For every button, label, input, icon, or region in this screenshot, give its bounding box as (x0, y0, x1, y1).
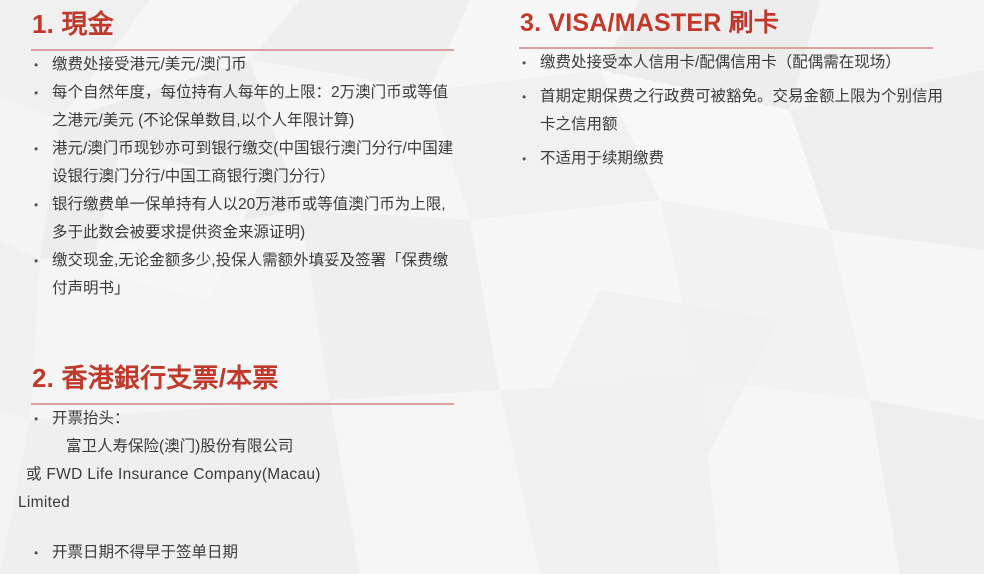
list-item-line: 富卫人寿保险(澳门)股份有限公司 (66, 433, 460, 461)
section-title-cash: 1. 現金 (30, 8, 460, 45)
section-hk-bank-cheque: 2. 香港銀行支票/本票 开票抬头： 富卫人寿保险(澳门)股份有限公司 或 FW… (30, 362, 460, 567)
slide-canvas: 1. 現金 缴费处接受港元/美元/澳门币 每个自然年度，每位持有人每年的上限：2… (0, 0, 984, 574)
list-item: 银行缴费单一保单持有人以20万港币或等值澳门币为上限,多于此数会被要求提供资金来… (30, 191, 460, 247)
list-item: 港元/澳门币现钞亦可到银行缴交(中国银行澳门分行/中国建设银行澳门分行/中国工商… (30, 135, 460, 191)
bullet-list-cash: 缴费处接受港元/美元/澳门币 每个自然年度，每位持有人每年的上限：2万澳门币或等… (30, 51, 460, 303)
list-item: 缴费处接受本人信用卡/配偶信用卡（配偶需在现场） (518, 49, 953, 77)
list-item-line: 开票抬头： (52, 405, 460, 433)
list-item-line: 或 FWD Life Insurance Company(Macau) (26, 461, 460, 489)
list-item: 首期定期保费之行政费可被豁免。交易金额上限为个别信用卡之信用额 (518, 83, 953, 139)
list-item: 开票日期不得早于签单日期 (30, 539, 460, 567)
bullet-list-hk-bank-cheque: 开票抬头： 富卫人寿保险(澳门)股份有限公司 或 FWD Life Insura… (30, 405, 460, 567)
list-item-line: 开票日期不得早于签单日期 (52, 539, 460, 567)
list-item: 开票抬头： 富卫人寿保险(澳门)股份有限公司 或 FWD Life Insura… (30, 405, 460, 517)
list-item: 每个自然年度，每位持有人每年的上限：2万澳门币或等值之港元/美元 (不论保单数目… (30, 79, 460, 135)
section-visa-master: 3. VISA/MASTER 刷卡 缴费处接受本人信用卡/配偶信用卡（配偶需在现… (518, 8, 953, 173)
list-item-line: Limited (18, 489, 460, 517)
bullet-list-visa-master: 缴费处接受本人信用卡/配偶信用卡（配偶需在现场） 首期定期保费之行政费可被豁免。… (518, 49, 953, 173)
section-title-visa-master: 3. VISA/MASTER 刷卡 (518, 8, 953, 43)
list-item: 缴交现金,无论金额多少,投保人需额外填妥及签署「保费缴付声明书」 (30, 247, 460, 303)
section-title-hk-bank-cheque: 2. 香港銀行支票/本票 (30, 362, 460, 399)
list-item: 缴费处接受港元/美元/澳门币 (30, 51, 460, 79)
list-item: 不适用于续期缴费 (518, 145, 953, 173)
section-cash: 1. 現金 缴费处接受港元/美元/澳门币 每个自然年度，每位持有人每年的上限：2… (30, 8, 460, 303)
